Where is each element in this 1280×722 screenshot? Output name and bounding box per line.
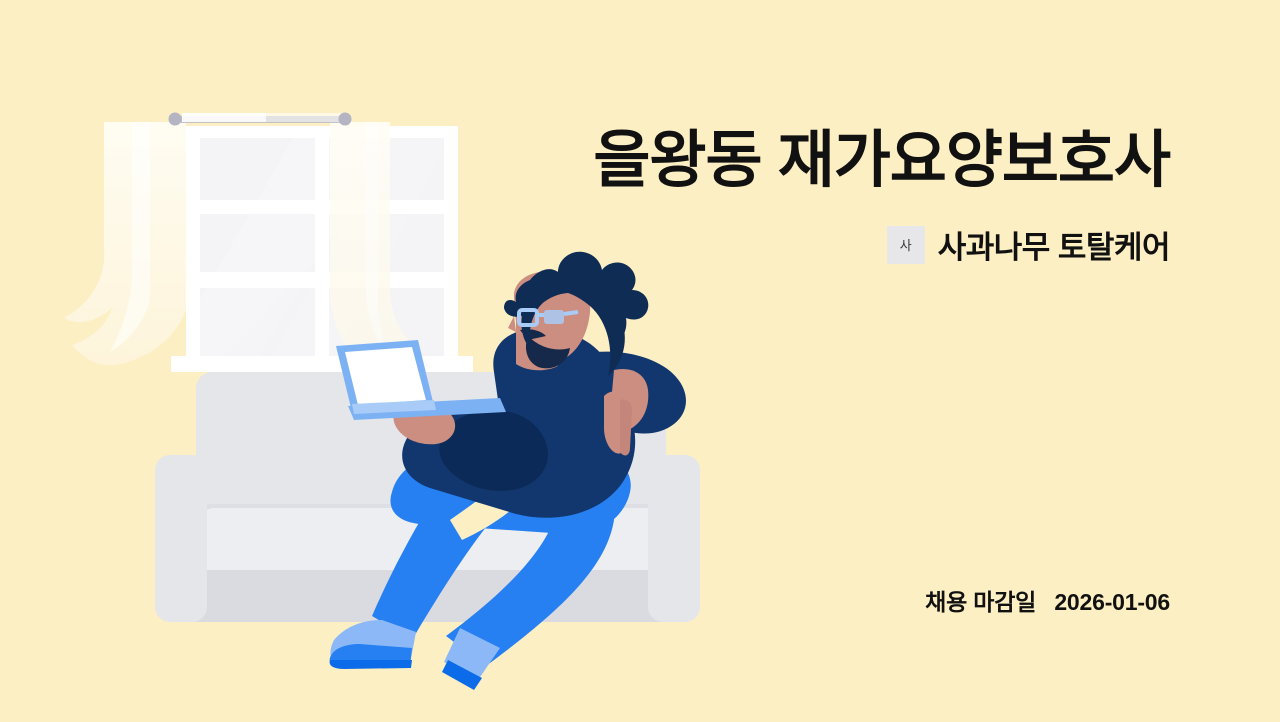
window-mullion-horizontal <box>186 200 458 214</box>
window-frame-mid-rail <box>186 272 458 288</box>
deadline-label: 채용 마감일 <box>925 589 1036 615</box>
curtain-rod-endcap-right <box>339 113 352 126</box>
avatar: 사 <box>887 226 925 264</box>
window-mullion-vertical <box>315 126 329 368</box>
curtain-rod-endcap-left <box>169 113 182 126</box>
deadline-block: 채용 마감일 2026-01-06 <box>925 583 1170 617</box>
laptop-screen <box>345 347 426 405</box>
page-title: 을왕동 재가요양보호사 <box>410 128 1170 195</box>
company-block: 사 사과나무 토탈케어 <box>887 222 1170 267</box>
window-frame-left <box>186 126 200 368</box>
curtain-rod-rings-left <box>182 113 266 122</box>
curtain-rod-rings-right <box>266 113 344 122</box>
sofa-arm-right <box>648 455 700 622</box>
deadline-date: 2026-01-06 <box>1054 589 1170 615</box>
company-name: 사과나무 토탈케어 <box>938 222 1170 267</box>
title-block: 을왕동 재가요양보호사 <box>410 128 1170 195</box>
job-posting-poster: 을왕동 재가요양보호사 사 사과나무 토탈케어 채용 마감일 2026-01-0… <box>0 0 1280 722</box>
sofa-arm-left <box>155 455 207 622</box>
window-sill <box>171 356 473 372</box>
